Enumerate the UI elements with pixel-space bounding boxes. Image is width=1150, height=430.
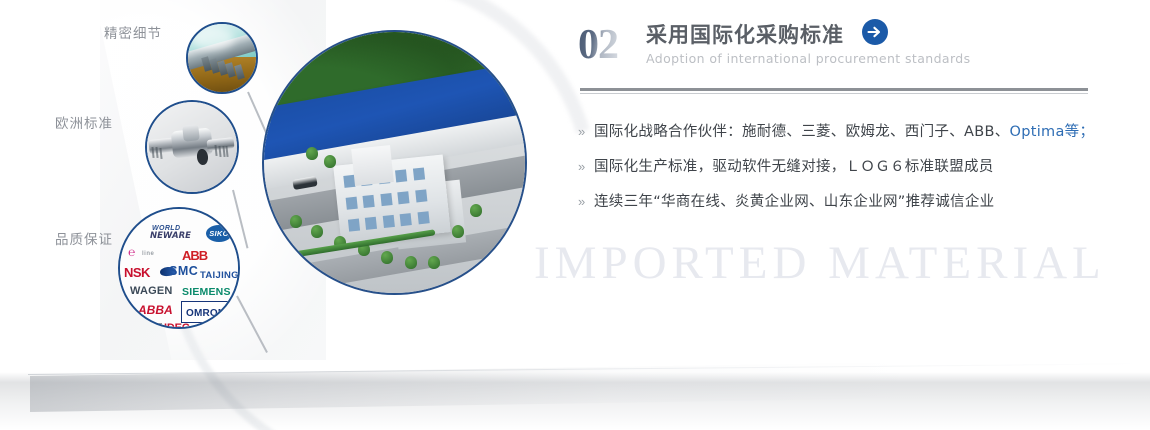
brand-taijing-label: TAIJING xyxy=(200,270,239,281)
list-item: » 国际化战略合作伙伴：施耐德、三菱、欧姆龙、西门子、ABB、Optima等； xyxy=(578,122,1098,142)
window xyxy=(383,215,395,229)
window xyxy=(380,193,392,207)
section-number: 02 xyxy=(578,24,618,66)
factory-aerial-photo xyxy=(262,30,527,295)
floor-gradient xyxy=(0,372,1150,430)
brand-idec-label: IDEC xyxy=(164,322,189,329)
tree xyxy=(311,225,323,238)
brand-abba-label: ABBA xyxy=(138,303,173,317)
brand-pink-sub-label: line xyxy=(142,251,154,257)
bubble-ball-screw xyxy=(145,100,239,194)
tree xyxy=(452,225,464,238)
window xyxy=(400,213,412,227)
bubble-brand-logos: WORLD NEWARE SIKO ℮ line ABB NSK SMC TAI… xyxy=(118,207,240,329)
bullet-marker-icon: » xyxy=(578,157,594,177)
window xyxy=(395,169,407,183)
title-block: 采用国际化采购标准 Adoption of international proc… xyxy=(646,22,971,66)
tree xyxy=(290,215,302,228)
label-precision-detail: 精密细节 xyxy=(104,22,162,42)
arrow-right-icon[interactable] xyxy=(862,19,888,45)
window xyxy=(365,216,377,230)
list-item: » 连续三年“华商在线、炎黄企业网、山东企业网”推荐诚信企业 xyxy=(578,192,1098,212)
content-column: 02 采用国际化采购标准 Adoption of international p… xyxy=(578,22,1098,82)
tree xyxy=(470,204,482,217)
header-divider xyxy=(580,88,1088,91)
glass-gloss xyxy=(192,27,234,50)
list-item-text: 国际化战略合作伙伴：施耐德、三菱、欧姆龙、西门子、ABB、Optima等； xyxy=(594,122,1094,142)
brand-neware-label: NEWARE xyxy=(150,231,191,241)
brand-siko-label: SIKO xyxy=(206,225,232,242)
window xyxy=(345,196,357,210)
list-item: » 国际化生产标准，驱动软件无缝对接，ＬＯＧ６标准联盟成员 xyxy=(578,157,1098,177)
brand-pink-mark-icon: ℮ xyxy=(128,245,135,259)
list-item-text: 连续三年“华商在线、炎黄企业网、山东企业网”推荐诚信企业 xyxy=(594,192,994,212)
window xyxy=(363,195,375,209)
promo-banner: 精密细节 欧洲标准 品质保证 WORLD NEWARE SIK xyxy=(0,0,1150,430)
window xyxy=(417,211,429,225)
watermark-text: IMPORTED MATERIAL xyxy=(534,236,1106,290)
page-title: 采用国际化采购标准 xyxy=(646,22,844,48)
list-item-lead: 国际化生产标准，驱动软件无缝对接，ＬＯＧ６标准联盟成员 xyxy=(594,159,994,175)
bullet-list: » 国际化战略合作伙伴：施耐德、三菱、欧姆龙、西门子、ABB、Optima等； … xyxy=(578,122,1098,227)
brand-omron-badge: OMRON xyxy=(181,301,230,323)
page-subtitle: Adoption of international procurement st… xyxy=(646,51,971,66)
bullet-marker-icon: » xyxy=(578,192,594,212)
brand-siemens-label: SIEMENS xyxy=(182,286,231,298)
section-header: 02 采用国际化采购标准 Adoption of international p… xyxy=(578,22,1098,82)
tree xyxy=(306,147,318,160)
header-divider-thin xyxy=(580,93,1088,94)
label-european-standard: 欧洲标准 xyxy=(55,112,113,132)
window xyxy=(398,191,410,205)
window xyxy=(415,189,427,203)
brand-omron-label: OMRON xyxy=(186,308,225,319)
screw-nut-cap xyxy=(182,125,200,143)
brand-logo-cloud: WORLD NEWARE SIKO ℮ line ABB NSK SMC TAI… xyxy=(120,209,238,327)
photo-entrance-tower xyxy=(351,145,394,185)
brand-smc-label: SMC xyxy=(169,264,198,278)
list-item-text: 国际化生产标准，驱动软件无缝对接，ＬＯＧ６标准联盟成员 xyxy=(594,157,994,177)
list-item-lead: 连续三年“华商在线、炎黄企业网、山东企业网”推荐诚信企业 xyxy=(594,194,994,210)
list-item-accent: Optima等； xyxy=(1010,124,1095,140)
tree xyxy=(405,256,417,269)
bubble-precision-teeth xyxy=(186,22,258,94)
brand-nsk-label: NSK xyxy=(124,265,150,280)
bullet-marker-icon: » xyxy=(578,122,594,142)
brand-abb-label: ABB xyxy=(182,248,207,263)
label-quality-guarantee: 品质保证 xyxy=(55,228,113,248)
list-item-lead: 国际化战略合作伙伴：施耐德、三菱、欧姆龙、西门子、ABB、 xyxy=(594,124,1010,140)
tree xyxy=(324,155,336,168)
window xyxy=(413,167,425,181)
window xyxy=(348,218,360,232)
brand-wagen-label: WAGEN xyxy=(130,285,173,297)
